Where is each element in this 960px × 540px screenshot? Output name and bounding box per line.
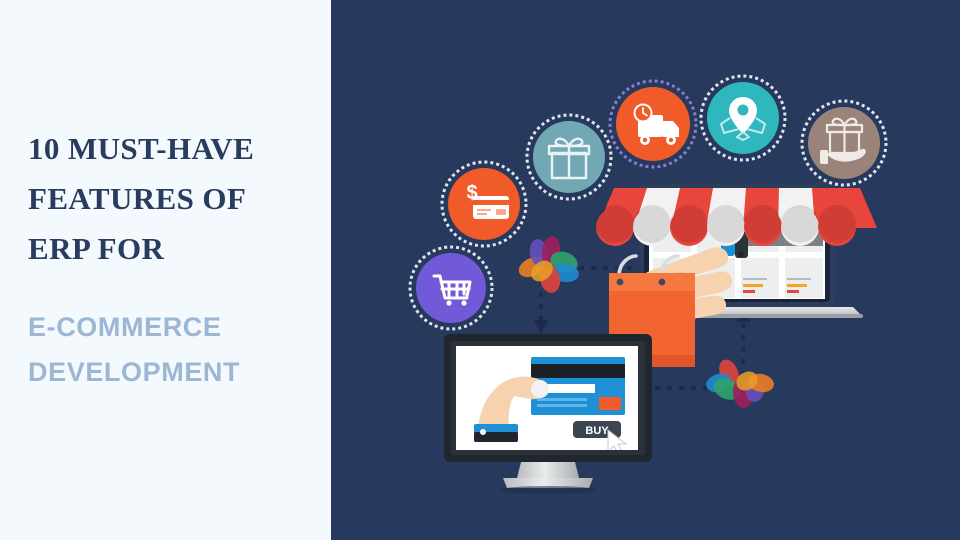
badge-shopping-cart[interactable] (410, 247, 492, 329)
badge-fast-delivery[interactable] (610, 81, 696, 167)
badge-location-tracking[interactable] (701, 76, 785, 160)
slide-root: 10 MUST-HAVE FEATURES OF ERP FOR E-COMME… (0, 0, 960, 540)
page-subtitle: E-COMMERCE DEVELOPMENT (28, 305, 328, 395)
desktop-checkout-monitor: BUY (444, 334, 652, 494)
badge-gift-packaging[interactable] (527, 115, 611, 199)
badge-payment-card[interactable]: $ (442, 162, 526, 246)
headline-line-1: 10 MUST-HAVE (28, 124, 318, 174)
headline-line-3: ERP FOR (28, 224, 318, 274)
subhead-line-1: E-COMMERCE (28, 305, 328, 350)
checkout-screen-content: BUY (456, 346, 638, 454)
buy-button-label: BUY (585, 425, 609, 437)
ecommerce-erp-illustration: BUY (331, 0, 960, 540)
right-illustration-panel: BUY (331, 0, 960, 540)
svg-text:$: $ (466, 182, 477, 204)
storefront-awning (596, 188, 877, 246)
badge-gift-handover[interactable] (802, 101, 886, 185)
left-text-panel: 10 MUST-HAVE FEATURES OF ERP FOR E-COMME… (0, 0, 331, 540)
flower-right (704, 357, 775, 409)
flower-left (516, 235, 581, 295)
page-title: 10 MUST-HAVE FEATURES OF ERP FOR (28, 124, 318, 274)
headline-line-2: FEATURES OF (28, 174, 318, 224)
subhead-line-2: DEVELOPMENT (28, 350, 328, 395)
